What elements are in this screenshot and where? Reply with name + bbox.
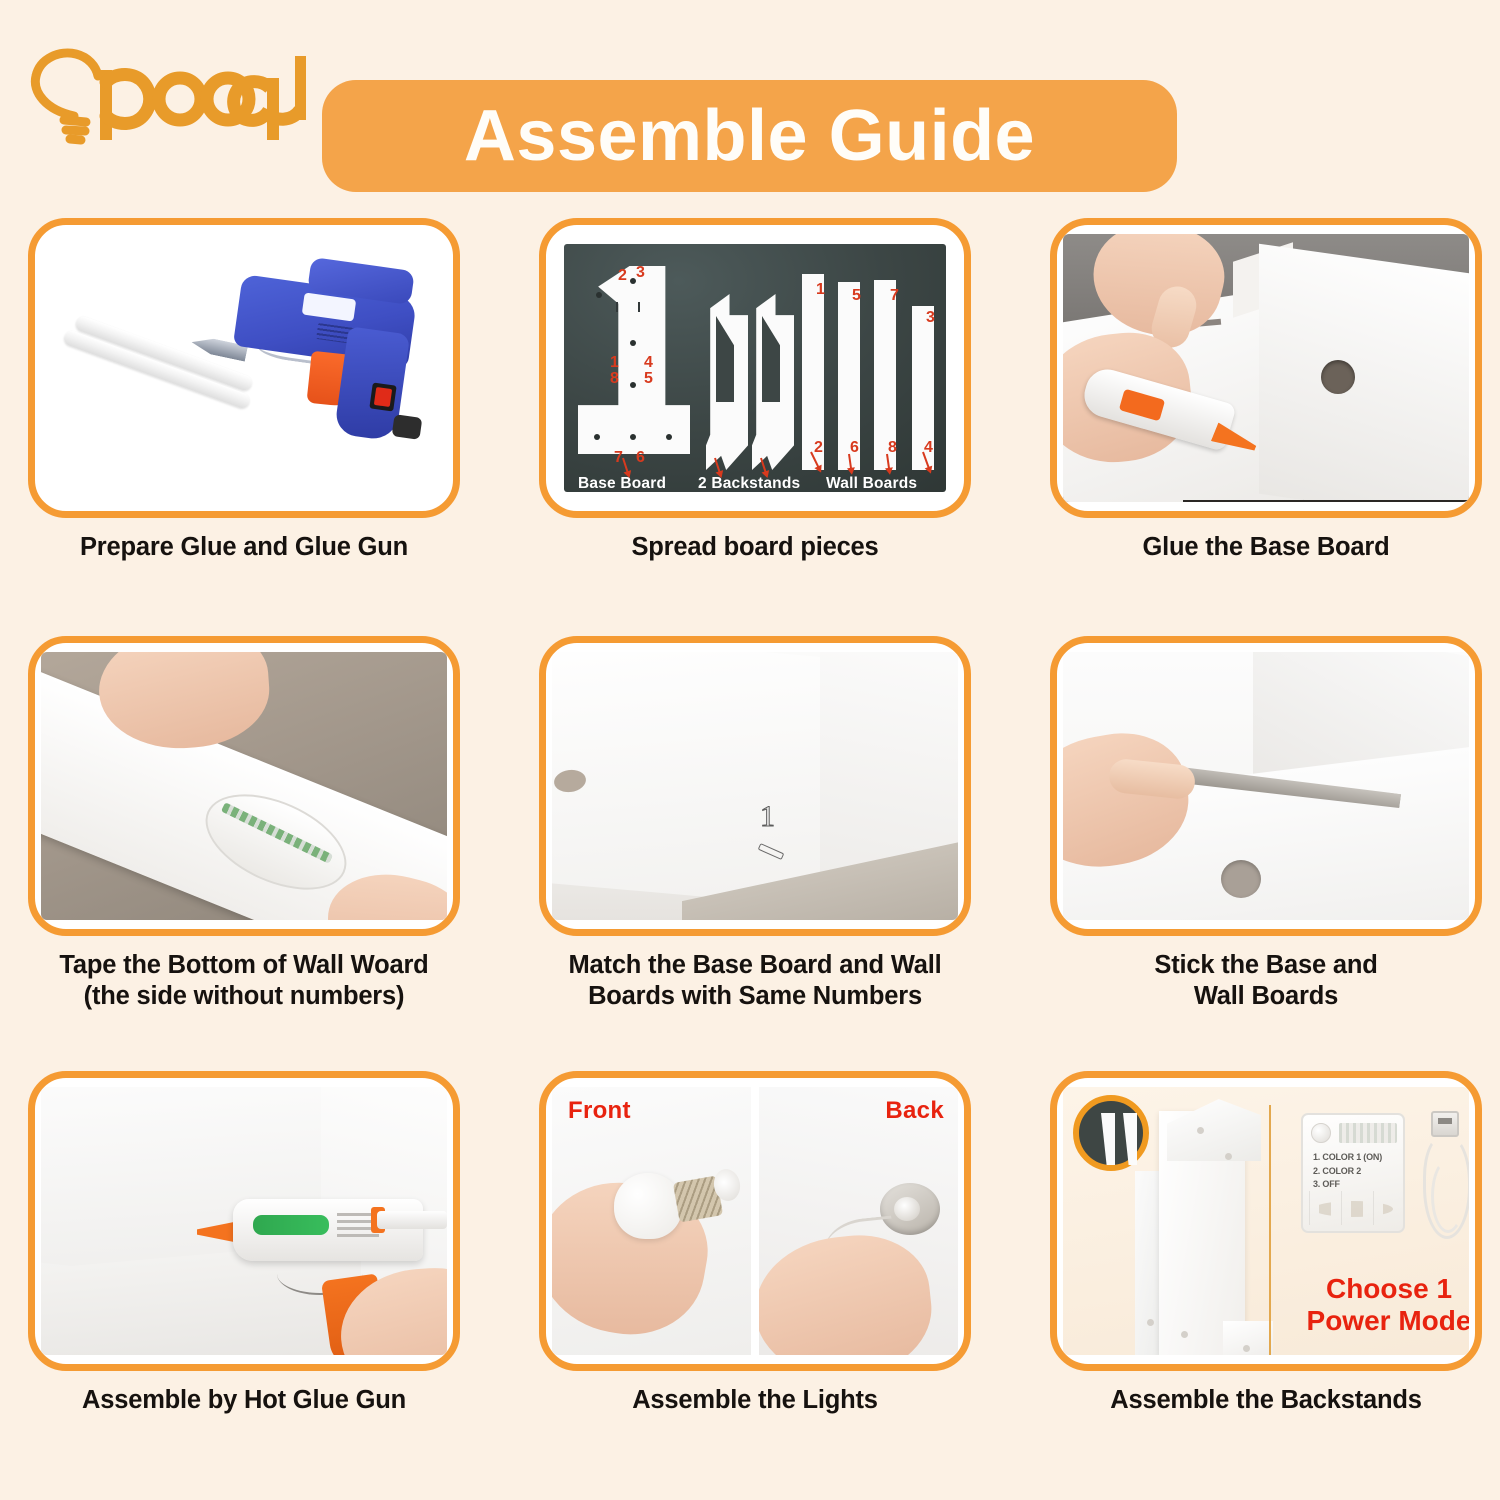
base-board: [552, 652, 846, 909]
vertical-divider: [1269, 1105, 1271, 1355]
glue-gun-cord-cap: [392, 414, 423, 440]
backstand-screw: [1225, 1153, 1232, 1160]
wall-number-2-top: 5: [852, 288, 861, 304]
wall-number-3-top: 7: [890, 288, 899, 304]
base-board-hole: [594, 434, 600, 440]
step-caption-4: Tape the Bottom of Wall Woard (the side …: [28, 950, 460, 1012]
caption-line: Assemble the Lights: [539, 1385, 971, 1416]
step-caption-8: Assemble the Lights: [539, 1385, 971, 1416]
step-card-9: 1. COLOR 1 (ON) 2. COLOR 2 3. OFF: [1050, 1071, 1482, 1416]
caption-line: Stick the Base and: [1050, 950, 1482, 981]
base-board-piece: [578, 266, 690, 454]
table-surface: [1183, 500, 1469, 502]
power-mode-line: Choose 1: [1289, 1273, 1469, 1305]
backstand-screw: [1197, 1127, 1204, 1134]
step-caption-7: Assemble by Hot Glue Gun: [28, 1385, 460, 1416]
usb-cable-loop-inner: [1431, 1159, 1465, 1233]
caption-line: Tape the Bottom of Wall Woard: [28, 950, 460, 981]
battery-mode-2: 2. COLOR 2: [1313, 1165, 1405, 1179]
step-image-frame-6: [1050, 636, 1482, 936]
scene-lights-front-back: Front Back: [552, 1087, 958, 1355]
page-title: Assemble Guide: [464, 100, 1035, 172]
pointer-arrow: [760, 458, 767, 474]
wall-number-4-top: 3: [926, 310, 935, 326]
caption-line: Match the Base Board and Wall: [539, 950, 971, 981]
step-card-4: Tape the Bottom of Wall Woard (the side …: [28, 636, 460, 1012]
base-board-slot: [616, 302, 618, 312]
brand-logo: [12, 48, 312, 158]
step-caption-1: Prepare Glue and Glue Gun: [28, 532, 460, 563]
scene-gluing-base-board: [1063, 234, 1469, 502]
base-board-right: [1259, 244, 1469, 502]
step-image-frame-1: [28, 218, 460, 518]
backstand-pair-icon: [1073, 1095, 1149, 1171]
scene-sticking-boards: [1063, 652, 1469, 920]
step-card-6: Stick the Base and Wall Boards: [1050, 636, 1482, 1012]
caption-line: Assemble the Backstands: [1050, 1385, 1482, 1416]
step-card-3: Glue the Base Board: [1050, 218, 1482, 563]
caption-line: Prepare Glue and Glue Gun: [28, 532, 460, 563]
caption-line: Glue the Base Board: [1050, 532, 1482, 563]
battery-mode-list: 1. COLOR 1 (ON) 2. COLOR 2 3. OFF: [1313, 1151, 1405, 1192]
assemble-guide-page: Assemble Guide: [0, 0, 1500, 1500]
scene-board-pieces-diagram: 2 3 1 8 4 5 7 6: [552, 234, 958, 502]
glue-stick: [377, 1211, 447, 1229]
base-number-bottom-right: 6: [636, 450, 645, 466]
backstand-screw: [1243, 1345, 1250, 1352]
step-image-frame-2: 2 3 1 8 4 5 7 6: [539, 218, 971, 518]
step-image-frame-3: [1050, 218, 1482, 518]
board-hole: [1321, 360, 1355, 394]
diagram-label-base-board: Base Board: [578, 476, 666, 492]
back-label: Back: [885, 1099, 944, 1123]
wall-number-3-bottom: 8: [888, 440, 897, 456]
battery-cells: [1309, 1191, 1397, 1225]
step-card-1: Prepare Glue and Glue Gun: [28, 218, 460, 563]
step-image-frame-7: [28, 1071, 460, 1371]
step-caption-2: Spread board pieces: [539, 532, 971, 563]
battery-mode-1: 1. COLOR 1 (ON): [1313, 1151, 1405, 1165]
scene-taping-wall-board: [41, 652, 447, 920]
caption-line: Wall Boards: [1050, 981, 1482, 1012]
base-board-hole: [630, 434, 636, 440]
scene-hot-glue-assembly: [41, 1087, 447, 1355]
power-mode-line: Power Mode: [1289, 1305, 1469, 1337]
battery-mode-3: 3. OFF: [1313, 1178, 1405, 1192]
light-front-view: Front: [552, 1087, 751, 1355]
step-image-frame-5: 1: [539, 636, 971, 936]
step-image-frame-9: 1. COLOR 1 (ON) 2. COLOR 2 3. OFF: [1050, 1071, 1482, 1371]
glue-gun-label: [253, 1215, 329, 1235]
step-card-2: 2 3 1 8 4 5 7 6: [539, 218, 971, 563]
step-caption-6: Stick the Base and Wall Boards: [1050, 950, 1482, 1012]
page-header: Assemble Guide: [0, 34, 1500, 174]
step-card-7: Assemble by Hot Glue Gun: [28, 1071, 460, 1416]
step-card-8: Front Back: [539, 1071, 971, 1416]
wall-number-4-bottom: 4: [924, 440, 933, 456]
backstand-shape: [1101, 1113, 1115, 1165]
wall-number-2-bottom: 6: [850, 440, 859, 456]
bulb-glass: [614, 1173, 682, 1239]
base-number-mid-left-lower: 8: [610, 371, 619, 387]
base-board-slot: [638, 302, 640, 312]
light-back-view: Back: [759, 1087, 958, 1355]
wall-number-1-top: 1: [816, 282, 825, 298]
diagram-label-wall-boards: Wall Boards: [826, 476, 917, 492]
backstand-arm: [1167, 1099, 1261, 1161]
wall-number-1-bottom: 2: [814, 440, 823, 456]
battery-circuit: [1339, 1123, 1397, 1143]
step-card-5: 1 Match the Base Board and Wall Boards w…: [539, 636, 971, 1012]
diagram-label-backstands: 2 Backstands: [698, 476, 800, 492]
base-board-hole: [630, 340, 636, 346]
base-number-top-right: 3: [636, 265, 645, 281]
base-number-mid-left-upper: 1: [610, 355, 619, 371]
hand: [759, 1228, 938, 1355]
base-board-hole: [596, 292, 602, 298]
power-mode-note: Choose 1 Power Mode: [1289, 1273, 1469, 1337]
panel-divider: [751, 1087, 759, 1355]
lightbulb-icon: [12, 48, 312, 158]
base-number-mid-right-upper: 4: [644, 355, 653, 371]
base-number-mid-right-lower: 5: [644, 371, 653, 387]
backstand-shape: [1123, 1113, 1137, 1165]
battery-box: 1. COLOR 1 (ON) 2. COLOR 2 3. OFF: [1301, 1113, 1405, 1233]
caption-line: Spread board pieces: [539, 532, 971, 563]
caption-line: (the side without numbers): [28, 981, 460, 1012]
page-title-banner: Assemble Guide: [322, 80, 1177, 192]
caption-line: Boards with Same Numbers: [539, 981, 971, 1012]
base-board-hole: [666, 434, 672, 440]
scene-backstands-and-power: 1. COLOR 1 (ON) 2. COLOR 2 3. OFF: [1063, 1087, 1469, 1355]
backstand-screw: [1147, 1319, 1154, 1326]
glue-gun-power-switch: [369, 382, 396, 411]
battery-switch-knob: [1311, 1123, 1331, 1143]
caption-line: Assemble by Hot Glue Gun: [28, 1385, 460, 1416]
base-board-hole: [630, 382, 636, 388]
steps-grid: Prepare Glue and Glue Gun: [28, 218, 1476, 1443]
pointer-arrow: [714, 458, 721, 474]
scene-glue-gun-and-sticks: [41, 234, 447, 502]
step-image-frame-8: Front Back: [539, 1071, 971, 1371]
step-caption-3: Glue the Base Board: [1050, 532, 1482, 563]
scene-matching-numbers: 1: [552, 652, 958, 920]
step-caption-5: Match the Base Board and Wall Boards wit…: [539, 950, 971, 1012]
board-number-marking: 1: [760, 800, 775, 834]
usb-cable-icon: [1419, 1111, 1469, 1241]
step-caption-9: Assemble the Backstands: [1050, 1385, 1482, 1416]
base-number-top-left: 2: [618, 268, 627, 284]
front-label: Front: [568, 1099, 631, 1123]
board-pieces-diagram: 2 3 1 8 4 5 7 6: [564, 244, 946, 492]
pointer-arrow: [622, 458, 629, 474]
usb-plug: [1431, 1111, 1459, 1137]
backstand-screw: [1181, 1331, 1188, 1338]
board-hole: [1221, 860, 1261, 898]
step-image-frame-4: [28, 636, 460, 936]
